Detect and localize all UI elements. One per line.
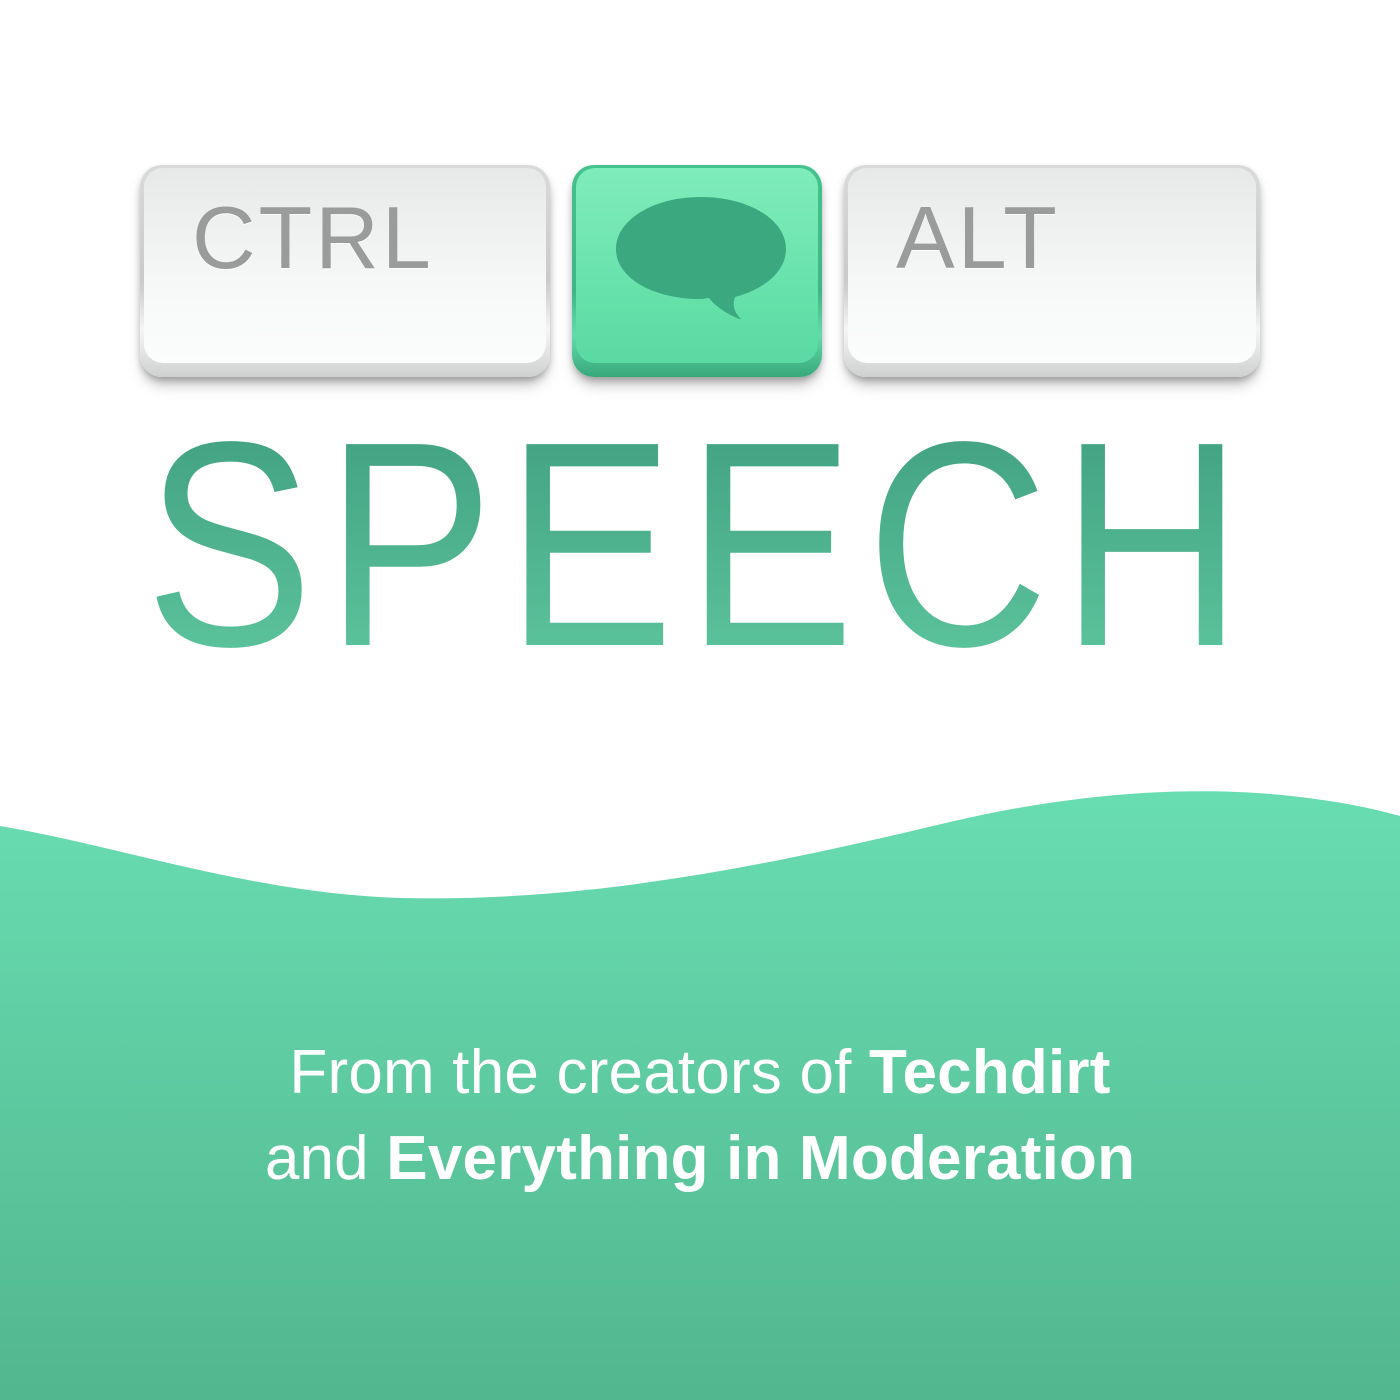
tagline: From the creators of Techdirt and Everyt…: [0, 1030, 1400, 1201]
tagline-line1-bold: Techdirt: [869, 1038, 1111, 1107]
key-speech-bubble-face: [576, 168, 818, 363]
wordmark-text: SPEECH: [145, 400, 1255, 670]
tagline-line-1: From the creators of Techdirt: [0, 1030, 1400, 1116]
wordmark-speech: SPEECH: [0, 400, 1400, 670]
key-ctrl-face: CTRL: [144, 168, 546, 363]
key-alt[interactable]: ALT: [844, 165, 1260, 377]
podcast-cover-art: CTRL ALT SPEECH From the cr: [0, 0, 1400, 1400]
speech-bubble-icon: [606, 194, 796, 319]
keycap-row: CTRL ALT: [140, 165, 1260, 390]
key-speech-bubble[interactable]: [572, 165, 822, 377]
tagline-line2-bold: Everything in Moderation: [386, 1124, 1135, 1193]
tagline-line-2: and Everything in Moderation: [0, 1116, 1400, 1202]
key-alt-face: ALT: [848, 168, 1256, 363]
tagline-line2-prefix: and: [265, 1124, 386, 1193]
key-ctrl-label: CTRL: [192, 194, 434, 282]
tagline-line1-prefix: From the creators of: [289, 1038, 869, 1107]
key-ctrl[interactable]: CTRL: [140, 165, 550, 377]
key-alt-label: ALT: [896, 194, 1060, 282]
